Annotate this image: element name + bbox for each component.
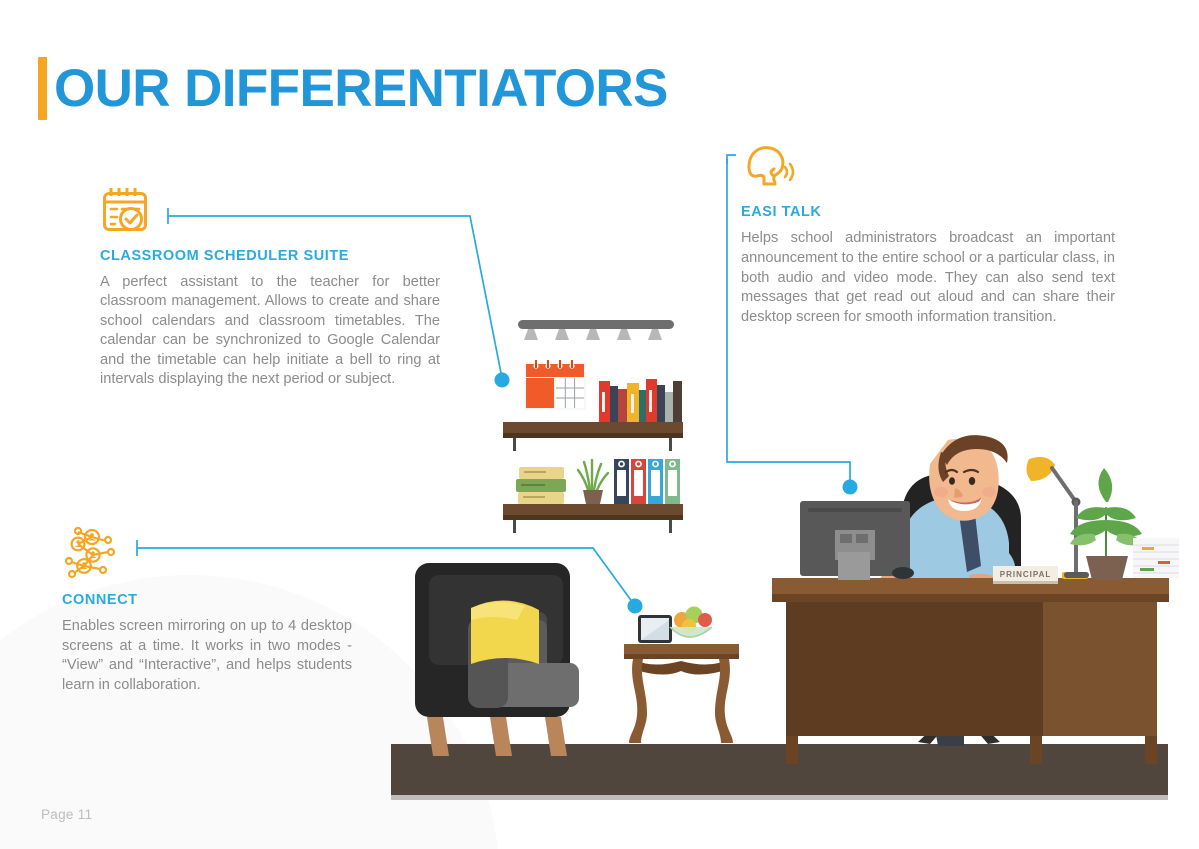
nameplate: PRINCIPAL <box>993 566 1058 584</box>
feature-block-classroom-scheduler-suite: CLASSROOM SCHEDULER SUITE A perfect assi… <box>100 186 440 389</box>
track-lighting <box>518 320 674 354</box>
desk-plant <box>1070 468 1142 580</box>
tablet <box>638 615 672 643</box>
side-table <box>624 644 739 743</box>
ring-binders <box>614 459 680 504</box>
feature-body: Enables screen mirroring on up to 4 desk… <box>62 617 352 695</box>
potted-grass <box>578 460 608 504</box>
title-text: OUR DIFFERENTIATORS <box>54 62 668 115</box>
fruit-bowl <box>670 607 712 638</box>
upper-shelf <box>503 422 683 451</box>
office-illustration: PRINCIPAL <box>0 0 1199 849</box>
slide-canvas: PRINCIPAL <box>0 0 1199 849</box>
monitor <box>800 501 910 580</box>
lower-shelf-book-stack <box>516 467 566 504</box>
feature-body: A perfect assistant to the teacher for b… <box>100 273 440 389</box>
wall-calendar <box>524 360 586 410</box>
feature-body: Helps school administrators broadcast an… <box>741 229 1115 328</box>
calendar-check-icon <box>100 186 440 232</box>
title-accent-bar <box>38 57 47 120</box>
paper-stack <box>1133 538 1179 578</box>
floor-baseboard <box>391 795 1168 800</box>
speaking-head-icon <box>741 143 1115 191</box>
feature-block-easi-talk: EASI TALK Helps school administrators br… <box>741 143 1115 328</box>
feature-heading: CLASSROOM SCHEDULER SUITE <box>100 248 440 264</box>
feature-heading: EASI TALK <box>741 204 1115 220</box>
network-nodes-icon <box>62 526 352 578</box>
armchair <box>415 563 579 756</box>
desk <box>772 578 1169 764</box>
upper-shelf-books <box>599 379 682 422</box>
lower-shelf <box>503 504 683 533</box>
page-title: OUR DIFFERENTIATORS <box>38 57 668 120</box>
feature-heading: CONNECT <box>62 592 352 608</box>
svg-text:PRINCIPAL: PRINCIPAL <box>1000 570 1052 579</box>
mouse <box>892 567 914 579</box>
feature-block-connect: CONNECT Enables screen mirroring on up t… <box>62 526 352 695</box>
page-number: Page 11 <box>41 807 92 822</box>
